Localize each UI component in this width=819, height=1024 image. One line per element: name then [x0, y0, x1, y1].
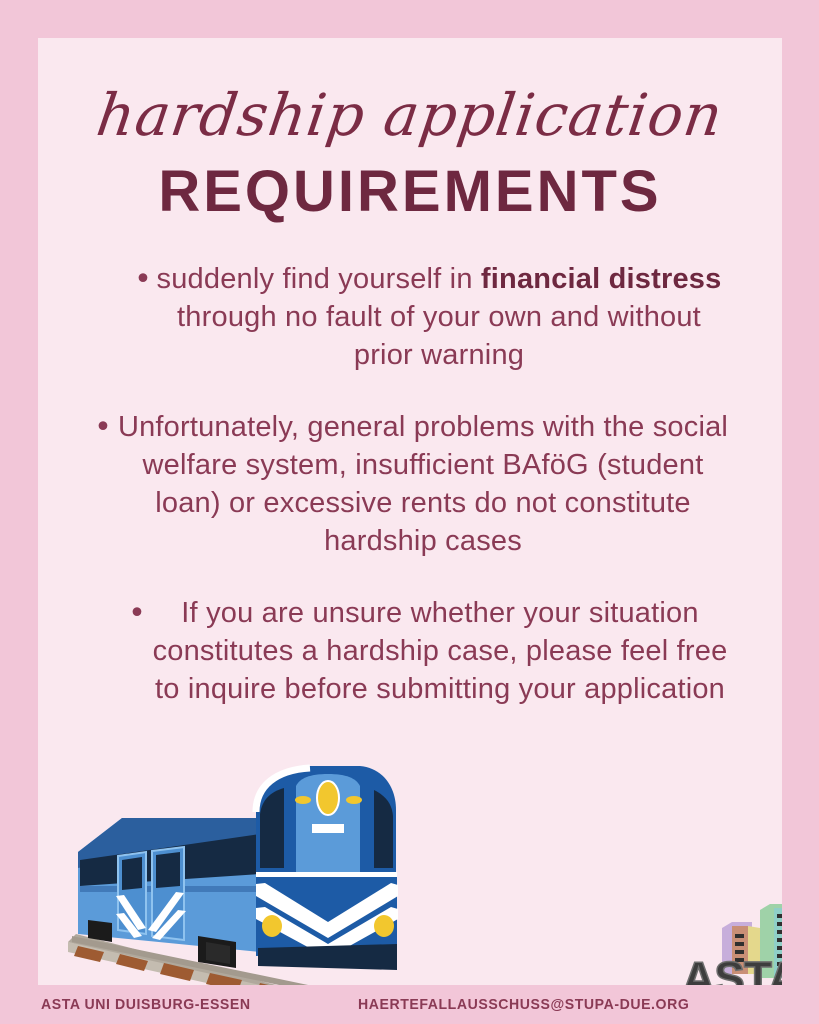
list-item-text: Unfortunately, general problems with the…	[116, 408, 730, 560]
list-item-text: If you are unsure whether your situation…	[150, 594, 730, 708]
list-item: • suddenly find yourself in financial di…	[90, 260, 730, 374]
plain-text: Unfortunately, general problems with the…	[118, 411, 728, 557]
plain-text: through no fault of your own and without…	[177, 301, 701, 371]
requirements-list: • suddenly find yourself in financial di…	[90, 260, 730, 708]
train-headlight-icon	[317, 781, 339, 815]
poster-panel: hardship application REQUIREMENTS • sudd…	[38, 38, 782, 985]
page-title: REQUIREMENTS	[38, 163, 782, 221]
poster-root: hardship application REQUIREMENTS • sudd…	[0, 0, 819, 1024]
footer-organization: ASTA UNI DUISBURG-ESSEN	[41, 996, 251, 1013]
train-number-plate	[312, 824, 344, 833]
bullet-marker-icon: •	[130, 261, 156, 299]
asta-logo: ASTA	[674, 900, 782, 985]
asta-wordmark: ASTA	[682, 952, 782, 985]
plain-text: If you are unsure whether your situation…	[153, 597, 728, 705]
train-lamp-right	[374, 915, 394, 937]
train-rear-car	[78, 818, 260, 952]
footer: ASTA UNI DUISBURG-ESSEN HAERTEFALLAUSSCH…	[0, 985, 819, 1024]
list-item: • Unfortunately, general problems with t…	[90, 408, 730, 560]
bullet-marker-icon: •	[124, 595, 150, 633]
list-item: • If you are unsure whether your situati…	[90, 594, 730, 708]
footer-email[interactable]: HAERTEFALLAUSSCHUSS@STUPA-DUE.ORG	[358, 996, 689, 1013]
train-marker-light-right	[346, 796, 362, 804]
script-title: hardship application	[38, 86, 782, 144]
plain-text: suddenly find yourself in	[157, 263, 481, 295]
train-lamp-left	[262, 915, 282, 937]
train-illustration	[60, 756, 400, 985]
bullet-marker-icon: •	[90, 409, 116, 447]
train-marker-light-left	[295, 796, 311, 804]
list-item-text: suddenly find yourself in financial dist…	[156, 260, 730, 374]
emphasis-text: financial distress	[481, 263, 722, 295]
